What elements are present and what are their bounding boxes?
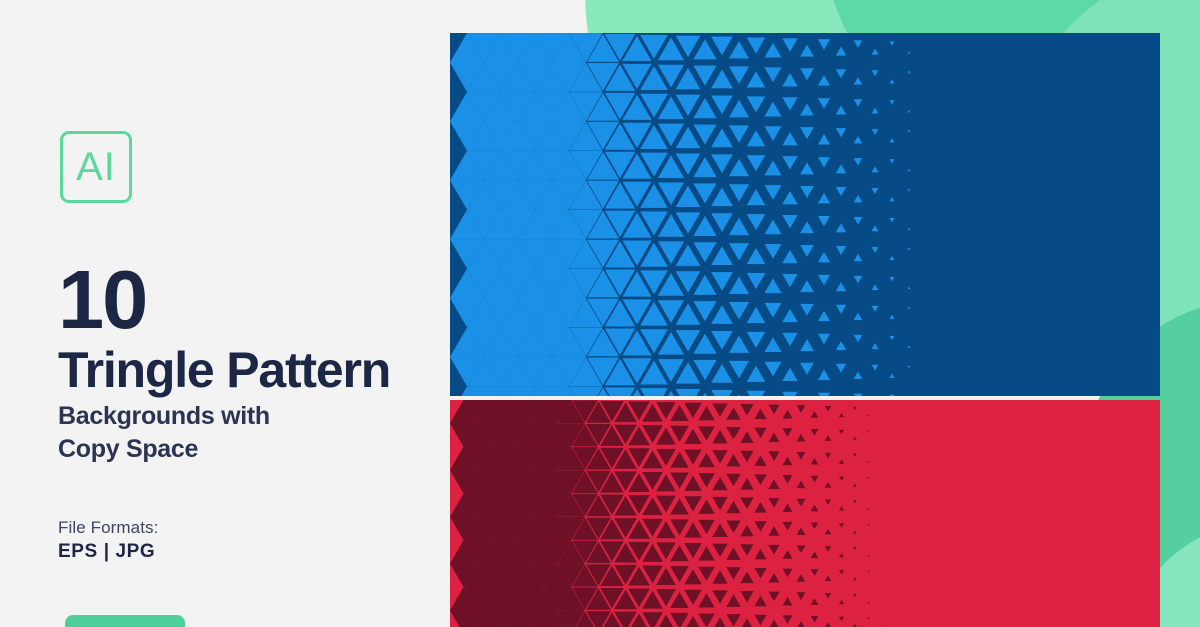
info-column: AI 10 Tringle Pattern Backgrounds with C… xyxy=(0,0,450,627)
file-formats-label: File Formats: xyxy=(58,518,158,538)
subtitle-line-2: Copy Space xyxy=(58,433,270,466)
red-triangle-pattern-panel xyxy=(450,400,1160,627)
file-formats-value: EPS | JPG xyxy=(58,541,155,563)
blue-triangle-pattern-panel xyxy=(450,33,1160,396)
page-subtitle: Backgrounds with Copy Space xyxy=(58,400,270,467)
item-count: 10 xyxy=(58,258,146,341)
subtitle-line-1: Backgrounds with xyxy=(58,400,270,433)
poster-canvas: AI 10 Tringle Pattern Backgrounds with C… xyxy=(0,0,1200,627)
bottom-accent-pill xyxy=(65,615,185,627)
page-title: Tringle Pattern xyxy=(58,345,390,395)
badge-label: AI xyxy=(76,147,116,187)
illustrator-file-badge-icon: AI xyxy=(60,131,132,203)
